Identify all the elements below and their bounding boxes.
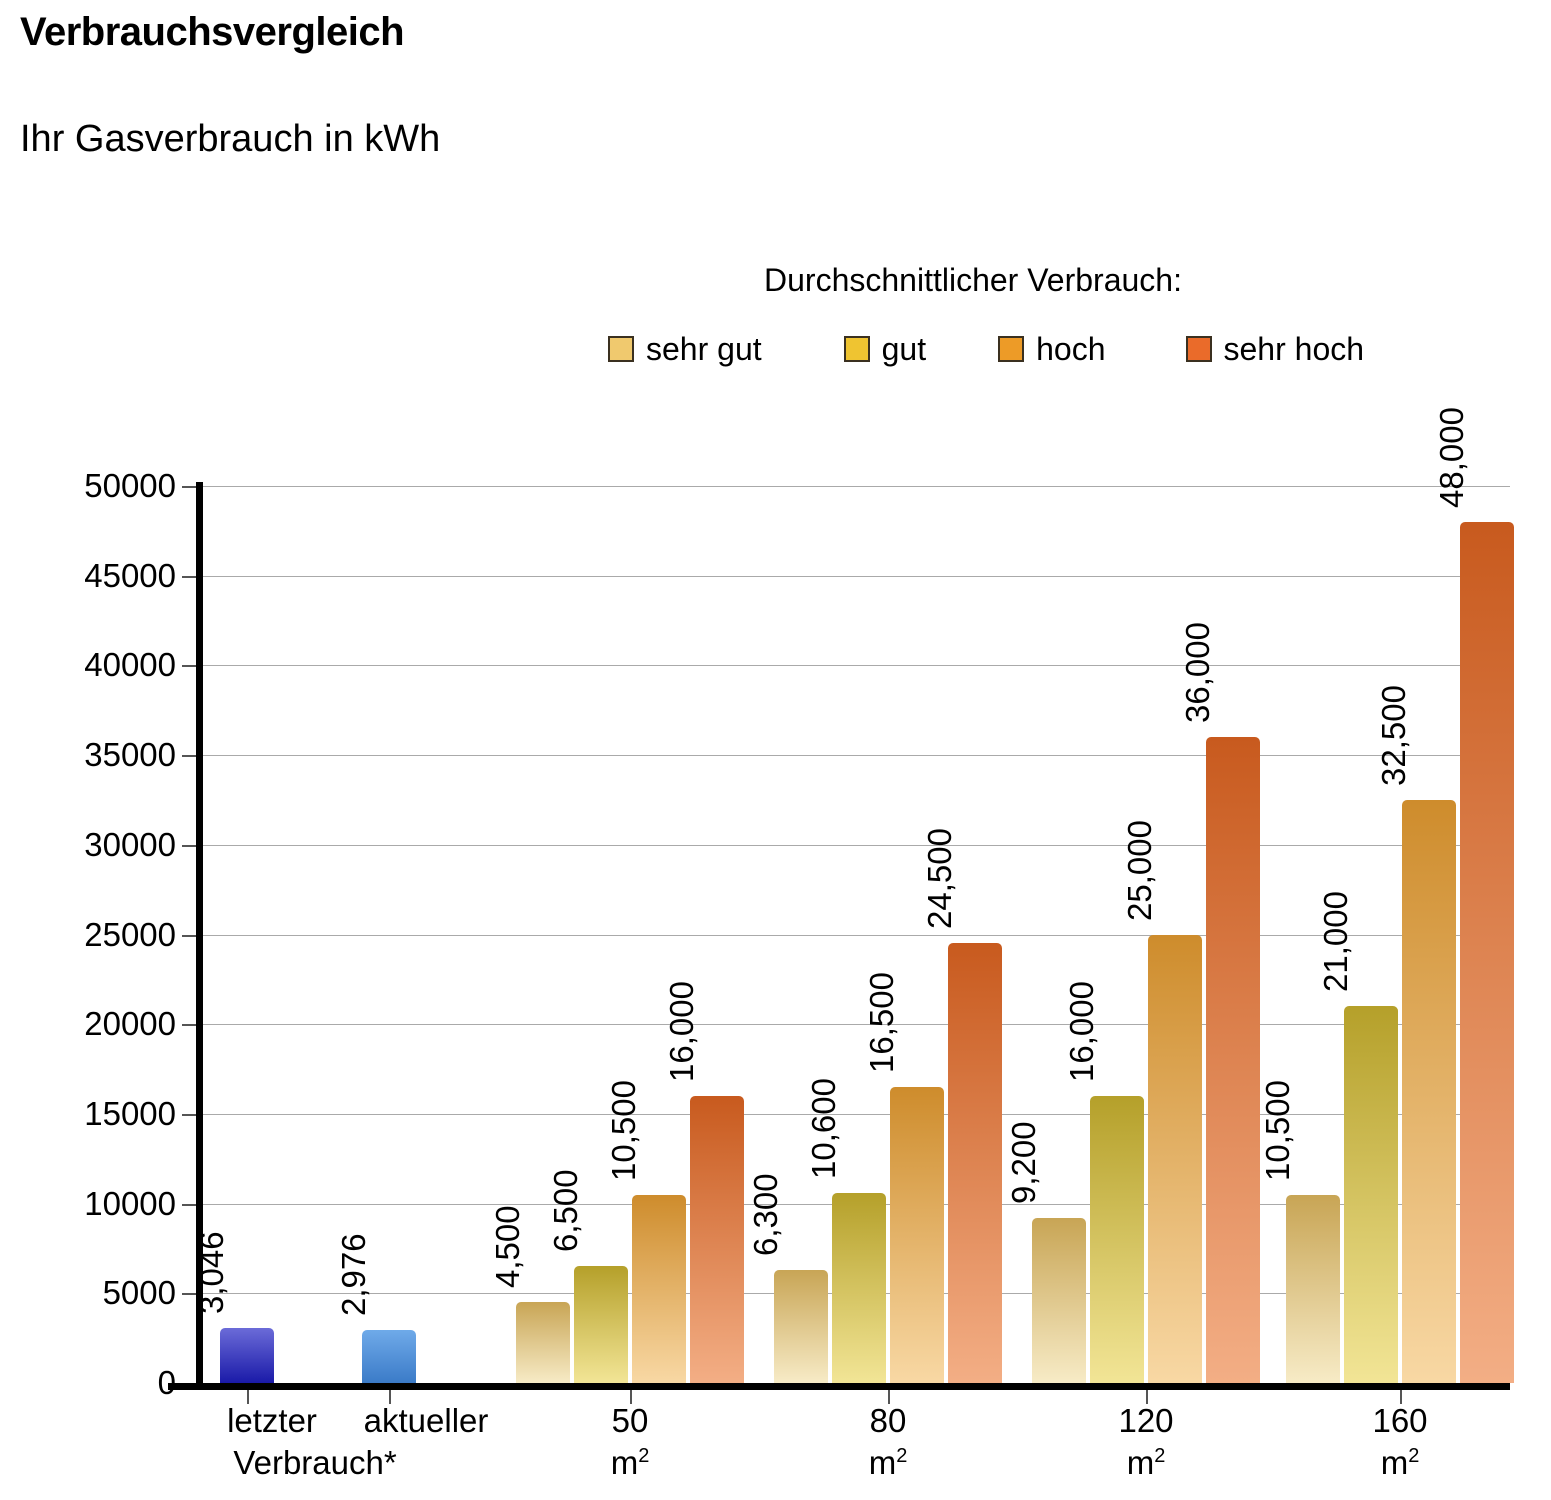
bar-value-label: 16,000 — [1063, 981, 1101, 1082]
bar-sehr-hoch-120-m-[interactable]: 36,000 — [1206, 737, 1260, 1383]
legend-item-label: sehr hoch — [1224, 333, 1365, 365]
bar-value-label: 48,000 — [1433, 407, 1471, 508]
gridline — [196, 845, 1510, 846]
legend-item-gut[interactable]: gut — [844, 333, 926, 365]
legend-swatch-icon — [844, 336, 870, 362]
bar-gut-160-m-[interactable]: 21,000 — [1344, 1006, 1398, 1383]
gridline — [196, 1024, 1510, 1025]
gridline — [196, 935, 1510, 936]
plot-area: 3,0462,9764,5006,50010,50016,0006,30010,… — [196, 486, 1510, 1383]
bar-sehr-gut-160-m-[interactable]: 10,500 — [1286, 1195, 1340, 1383]
bar-aktueller-verbrauch-[interactable]: 2,976 — [362, 1330, 416, 1383]
legend-item-label: gut — [882, 333, 926, 365]
x-axis-label-line1: 120 — [1118, 1400, 1173, 1442]
bar-sehr-gut-50-m-[interactable]: 4,500 — [516, 1302, 570, 1383]
bar-gut-50-m-[interactable]: 6,500 — [574, 1266, 628, 1383]
x-axis-label-line1: 160 — [1372, 1400, 1427, 1442]
bar-gut-80-m-[interactable]: 10,600 — [832, 1193, 886, 1383]
bar-letzter-verbrauch-[interactable]: 3,046 — [220, 1328, 274, 1383]
bar-gut-120-m-[interactable]: 16,000 — [1090, 1096, 1144, 1383]
y-axis-tick-label: 5000 — [103, 1274, 176, 1312]
legend-item-label: hoch — [1036, 333, 1105, 365]
y-axis-tick-mark — [182, 1024, 196, 1026]
y-axis-tick-label: 35000 — [84, 736, 176, 774]
y-axis-tick-label: 45000 — [84, 557, 176, 595]
bar-hoch-50-m-[interactable]: 10,500 — [632, 1195, 686, 1383]
gridline — [196, 755, 1510, 756]
x-axis-label-line2: m2 — [1118, 1442, 1173, 1484]
bar-value-label: 24,500 — [921, 829, 959, 930]
x-axis-label-line1: aktueller — [364, 1400, 489, 1442]
bar-value-label: 16,000 — [663, 981, 701, 1082]
x-axis-label-line2: Verbrauch* — [233, 1442, 396, 1484]
y-axis-tick-mark — [182, 1114, 196, 1116]
y-axis-tick-label: 10000 — [84, 1185, 176, 1223]
x-axis-label-line2: m2 — [611, 1442, 650, 1484]
gridline — [196, 1114, 1510, 1115]
bar-value-label: 10,500 — [1259, 1080, 1297, 1181]
bar-hoch-80-m-[interactable]: 16,500 — [890, 1087, 944, 1383]
x-axis-label-line1: 80 — [869, 1400, 908, 1442]
y-axis-tick-mark — [182, 486, 196, 488]
bar-value-label: 10,500 — [605, 1080, 643, 1181]
legend-item-sehr-gut[interactable]: sehr gut — [608, 333, 762, 365]
bar-sehr-hoch-50-m-[interactable]: 16,000 — [690, 1096, 744, 1383]
bar-value-label: 32,500 — [1375, 685, 1413, 786]
y-axis-tick-label: 30000 — [84, 826, 176, 864]
gridline — [196, 486, 1510, 487]
y-axis-tick-label: 40000 — [84, 646, 176, 684]
legend-item-hoch[interactable]: hoch — [998, 333, 1105, 365]
bar-value-label: 21,000 — [1317, 891, 1355, 992]
x-axis-label-line2: m2 — [869, 1442, 908, 1484]
gridline — [196, 576, 1510, 577]
bar-sehr-hoch-80-m-[interactable]: 24,500 — [948, 943, 1002, 1383]
bar-value-label: 6,300 — [747, 1173, 785, 1256]
chart-subtitle: Ihr Gasverbrauch in kWh — [20, 118, 440, 161]
bar-value-label: 2,976 — [335, 1233, 373, 1316]
x-axis-group-label: 80m2 — [869, 1400, 908, 1484]
bar-sehr-gut-120-m-[interactable]: 9,200 — [1032, 1218, 1086, 1383]
legend-item-label: sehr gut — [646, 333, 762, 365]
y-axis-tick-mark — [182, 1204, 196, 1206]
chart-legend: sehr gutguthochsehr hoch — [608, 333, 1364, 365]
legend-swatch-icon — [998, 336, 1024, 362]
bar-value-label: 9,200 — [1005, 1121, 1043, 1204]
y-axis-tick-mark — [182, 845, 196, 847]
x-axis-group-label: 160m2 — [1372, 1400, 1427, 1484]
y-axis-tick-label: 20000 — [84, 1005, 176, 1043]
bar-sehr-hoch-160-m-[interactable]: 48,000 — [1460, 522, 1514, 1383]
legend-swatch-icon — [608, 336, 634, 362]
legend-swatch-icon — [1186, 336, 1212, 362]
y-axis-tick-label: 50000 — [84, 467, 176, 505]
y-axis-tick-label: 15000 — [84, 1095, 176, 1133]
bar-sehr-gut-80-m-[interactable]: 6,300 — [774, 1270, 828, 1383]
legend-title: Durchschnittlicher Verbrauch: — [764, 262, 1182, 299]
gridline — [196, 665, 1510, 666]
bar-value-label: 36,000 — [1179, 622, 1217, 723]
y-axis-line — [196, 482, 203, 1387]
bar-value-label: 10,600 — [805, 1078, 843, 1179]
y-axis-tick-mark — [182, 576, 196, 578]
bar-hoch-160-m-[interactable]: 32,500 — [1402, 800, 1456, 1383]
x-axis-group-label: 50m2 — [611, 1400, 650, 1484]
bar-value-label: 4,500 — [489, 1206, 527, 1289]
y-axis-tick-mark — [182, 935, 196, 937]
x-axis-label-line1: letzter — [227, 1400, 317, 1442]
y-axis-tick-mark — [182, 755, 196, 757]
page-title: Verbrauchsvergleich — [20, 10, 404, 55]
y-axis-tick-label: 25000 — [84, 916, 176, 954]
x-axis-label-line2: m2 — [1372, 1442, 1427, 1484]
x-axis-group-label: 120m2 — [1118, 1400, 1173, 1484]
bar-value-label: 25,000 — [1121, 820, 1159, 921]
bar-value-label: 6,500 — [547, 1170, 585, 1253]
legend-item-sehr-hoch[interactable]: sehr hoch — [1186, 333, 1365, 365]
x-axis-line — [168, 1383, 1510, 1390]
bar-hoch-120-m-[interactable]: 25,000 — [1148, 935, 1202, 1384]
bar-value-label: 16,500 — [863, 972, 901, 1073]
y-axis-labels: 0500010000150002000025000300003500040000… — [0, 486, 176, 1383]
x-axis-label-line1: 50 — [611, 1400, 650, 1442]
x-axis-group-label: aktueller — [364, 1400, 489, 1442]
y-axis-tick-mark — [182, 665, 196, 667]
x-axis-group-label: letzterVerbrauch* — [227, 1400, 317, 1442]
